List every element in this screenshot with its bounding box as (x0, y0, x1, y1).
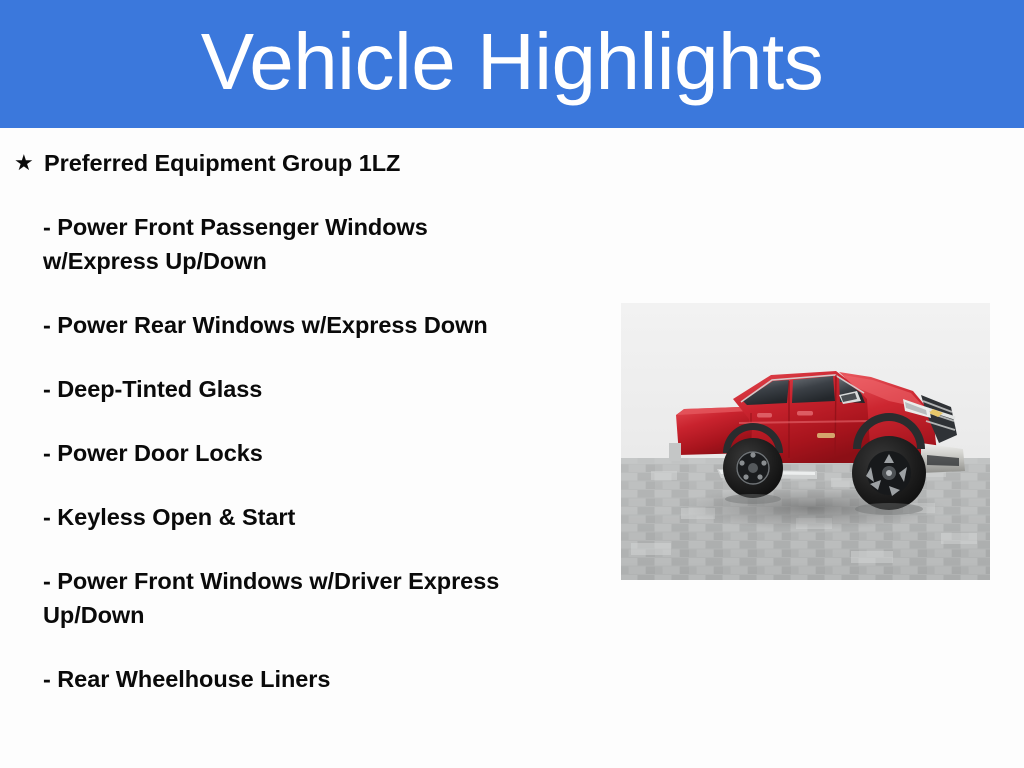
slide: Vehicle Highlights ★ Preferred Equipment… (0, 0, 1024, 768)
list-item: - Keyless Open & Start (0, 500, 600, 534)
list-item: - Power Front Passenger Windows w/Expres… (0, 210, 600, 278)
list-item: - Power Door Locks (0, 436, 600, 470)
list-item-label: - Power Front Passenger Windows w/Expres… (43, 210, 548, 278)
bullet-list: ★ Preferred Equipment Group 1LZ - Power … (0, 128, 600, 696)
header-band: Vehicle Highlights (0, 0, 1024, 128)
list-item-label: - Power Front Windows w/Driver Express U… (43, 564, 548, 632)
list-item-label: - Deep-Tinted Glass (43, 372, 548, 406)
vehicle-photo (621, 303, 990, 580)
list-item: ★ Preferred Equipment Group 1LZ (0, 146, 600, 180)
list-item: - Deep-Tinted Glass (0, 372, 600, 406)
list-item-label: - Keyless Open & Start (43, 500, 548, 534)
list-item-label: - Power Rear Windows w/Express Down (43, 308, 548, 342)
list-item: - Power Rear Windows w/Express Down (0, 308, 600, 342)
vehicle-photo-image (621, 303, 990, 580)
star-bullet-icon: ★ (14, 146, 44, 180)
list-item-label: - Rear Wheelhouse Liners (43, 662, 548, 696)
page-title: Vehicle Highlights (0, 12, 1024, 112)
list-item: - Rear Wheelhouse Liners (0, 662, 600, 696)
slide-content: ★ Preferred Equipment Group 1LZ - Power … (0, 128, 1024, 768)
list-item: - Power Front Windows w/Driver Express U… (0, 564, 600, 632)
list-item-label: Preferred Equipment Group 1LZ (44, 146, 600, 180)
list-item-label: - Power Door Locks (43, 436, 548, 470)
